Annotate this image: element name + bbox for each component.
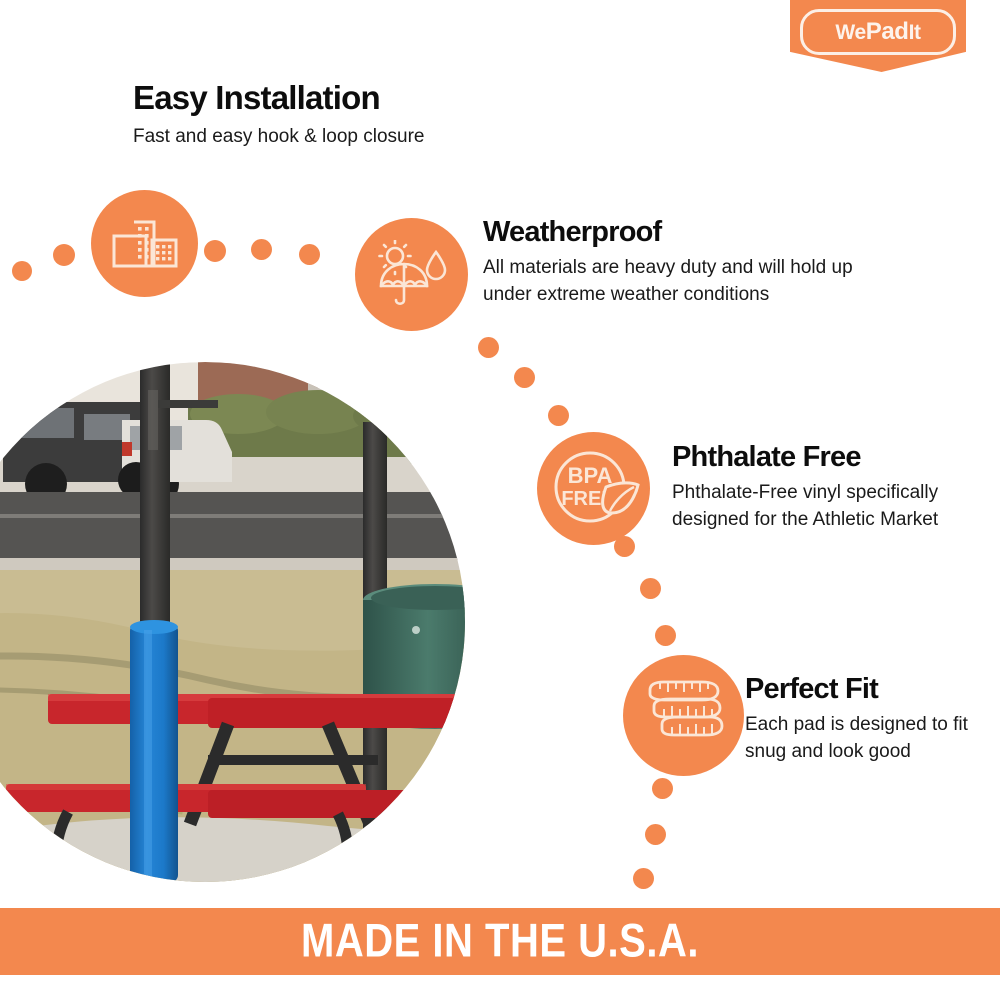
feature-description: Phthalate-Free vinyl specifically design… bbox=[672, 479, 972, 533]
path-dot bbox=[655, 625, 676, 646]
path-dot bbox=[299, 244, 320, 265]
path-dot bbox=[633, 868, 654, 889]
made-in-usa-text: MADE IN THE U.S.A. bbox=[301, 915, 699, 968]
bpa-label-line1: BPA bbox=[567, 463, 612, 488]
logo-word-it: It bbox=[909, 21, 921, 44]
feature-description: Fast and easy hook & loop closure bbox=[133, 124, 553, 150]
made-in-usa-banner: MADE IN THE U.S.A. bbox=[0, 908, 1000, 975]
path-dot bbox=[53, 244, 75, 266]
brand-logo: WePadIt bbox=[790, 0, 966, 72]
path-dot bbox=[514, 367, 535, 388]
logo-word-we: We bbox=[835, 21, 865, 44]
measuring-tape-icon bbox=[623, 655, 744, 776]
logo-frame: WePadIt bbox=[800, 9, 956, 55]
path-dot bbox=[652, 778, 673, 799]
feature-block-perfect-fit: Perfect Fit Each pad is designed to fit … bbox=[745, 670, 990, 765]
buildings-icon bbox=[91, 190, 198, 297]
product-photo bbox=[0, 362, 503, 882]
feature-description: Each pad is designed to fit snug and loo… bbox=[745, 711, 990, 765]
feature-block-phthalate-free: Phthalate Free Phthalate-Free vinyl spec… bbox=[672, 438, 972, 533]
path-dot bbox=[645, 824, 666, 845]
logo-word-pad: Pad bbox=[866, 18, 909, 45]
path-dot bbox=[12, 261, 32, 281]
bpa-free-leaf-icon: BPA FREE bbox=[537, 432, 650, 545]
feature-title: Phthalate Free bbox=[672, 438, 972, 476]
feature-block-easy-installation: Easy Installation Fast and easy hook & l… bbox=[133, 78, 553, 150]
infographic-canvas: WePadIt Easy Installation Fast and easy … bbox=[0, 0, 1000, 987]
path-dot bbox=[548, 405, 569, 426]
path-dot bbox=[478, 337, 499, 358]
logo-text: WePadIt bbox=[835, 21, 920, 43]
path-dot bbox=[251, 239, 272, 260]
path-dot bbox=[204, 240, 226, 262]
feature-title: Easy Installation bbox=[133, 78, 553, 118]
feature-block-weatherproof: Weatherproof All materials are heavy dut… bbox=[483, 213, 903, 308]
sun-umbrella-raindrop-icon bbox=[355, 218, 468, 331]
feature-title: Perfect Fit bbox=[745, 670, 990, 708]
feature-title: Weatherproof bbox=[483, 213, 903, 251]
feature-description: All materials are heavy duty and will ho… bbox=[483, 254, 903, 308]
path-dot bbox=[640, 578, 661, 599]
